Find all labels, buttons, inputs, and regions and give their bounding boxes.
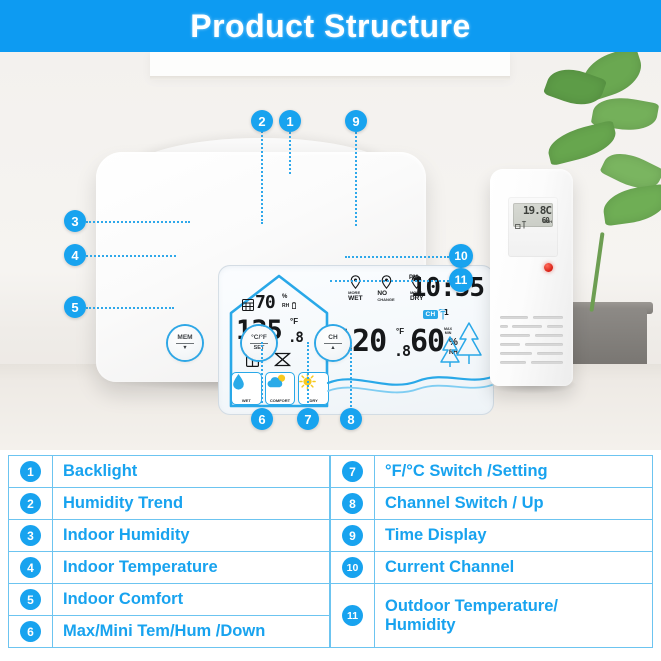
outdoor-sensor-unit: 19.8C 60 %RH: [490, 169, 573, 386]
comfort-comfort-label: COMFORT: [266, 398, 295, 403]
sensor-humidity-unit: %RH: [543, 219, 552, 224]
callout-badge-6[interactable]: 6: [251, 408, 273, 430]
legend-number-cell: 4: [9, 552, 53, 583]
sensor-led-indicator: [544, 263, 553, 272]
legend-label-7: °F/°C Switch /Setting: [375, 456, 652, 487]
legend-number-2: 2: [20, 493, 41, 514]
legend-number-1: 1: [20, 461, 41, 482]
legend-label-11-wrapper: Outdoor Temperature/ Humidity: [375, 584, 652, 647]
legend-label-3: Indoor Humidity: [53, 520, 329, 551]
legend-label-9: Time Display: [375, 520, 652, 551]
callout-badge-3[interactable]: 3: [64, 210, 86, 232]
header-banner: Product Structure: [0, 0, 661, 52]
mem-button-bottom-label: ▼: [182, 346, 187, 352]
legend-row-8[interactable]: 8 Channel Switch / Up: [330, 487, 653, 519]
callout-badge-11[interactable]: 11: [449, 268, 473, 292]
trend-no-change-line2: CHANGE: [377, 297, 394, 302]
indoor-humidity-rh: RH: [282, 303, 289, 309]
legend-row-6[interactable]: 6 Max/Mini Tem/Hum /Down: [8, 615, 330, 648]
mem-down-button[interactable]: MEM ▼: [168, 326, 202, 360]
time-display: 10:55: [411, 275, 484, 301]
legend-table: 1 Backlight 2 Humidity Trend 3 Indoor Hu…: [8, 455, 653, 653]
channel-badge: CH: [423, 310, 438, 319]
trend-pin-icon: [381, 275, 392, 289]
legend-number-7: 7: [342, 461, 363, 482]
plant-stem: [589, 232, 604, 312]
channel-number: 1: [444, 309, 448, 317]
button-divider: [250, 343, 268, 344]
legend-row-10[interactable]: 10 Current Channel: [330, 551, 653, 583]
legend-label-1: Backlight: [53, 456, 329, 487]
legend-number-6: 6: [20, 621, 41, 642]
sensor-front-window: 19.8C 60 %RH: [508, 197, 558, 257]
channel-button-top-label: CH: [328, 335, 337, 342]
legend-row-7[interactable]: 7 °F/°C Switch /Setting: [330, 455, 653, 487]
callout-leader-6: [261, 342, 263, 418]
mem-button-top-label: MEM: [177, 335, 192, 342]
callout-badge-2[interactable]: 2: [251, 110, 273, 132]
product-photo-scene: 70 % RH 135 .8 °F: [0, 52, 661, 450]
indoor-temperature-decimal: .8: [288, 331, 303, 345]
trees-graphic: [438, 319, 492, 371]
legend-number-cell: 3: [9, 520, 53, 551]
callout-leader-3: [86, 221, 190, 223]
callout-leader-11: [330, 280, 449, 282]
comfort-dry-label: DRY: [299, 398, 328, 403]
legend-label-5: Indoor Comfort: [53, 584, 329, 615]
comfort-wet-box: WET: [231, 372, 262, 405]
legend-number-cell: 8: [331, 488, 375, 519]
comfort-comfort-box: COMFORT: [265, 372, 296, 405]
battery-icon: [292, 302, 296, 309]
unit-set-button[interactable]: °C/°F SET: [242, 326, 276, 360]
legend-number-cell: 5: [9, 584, 53, 615]
legend-number-4: 4: [20, 557, 41, 578]
channel-up-button[interactable]: CH ▲: [316, 326, 350, 360]
trend-no-change-line1: NO: [377, 290, 394, 297]
legend-label-8: Channel Switch / Up: [375, 488, 652, 519]
outdoor-temperature-decimal: .8: [394, 344, 410, 359]
callout-leader-8: [350, 342, 352, 418]
outdoor-temperature-unit: °F: [396, 327, 404, 336]
trend-more-wet-line2: WET: [348, 295, 362, 302]
callout-badge-7[interactable]: 7: [297, 408, 319, 430]
legend-row-1[interactable]: 1 Backlight: [8, 455, 330, 487]
legend-row-4[interactable]: 4 Indoor Temperature: [8, 551, 330, 583]
callout-leader-9: [355, 124, 357, 226]
page-title: Product Structure: [0, 0, 661, 52]
indoor-comfort-row: WET COMFORT: [231, 372, 329, 405]
legend-number-9: 9: [342, 525, 363, 546]
legend-column-right: 7 °F/°C Switch /Setting 8 Channel Switch…: [330, 455, 653, 653]
indoor-humidity-icon: [242, 299, 254, 311]
unit-button-top-label: °C/°F: [251, 335, 267, 342]
legend-number-cell: 10: [331, 552, 375, 583]
legend-label-10: Current Channel: [375, 552, 652, 583]
callout-leader-2: [261, 124, 263, 224]
button-divider: [324, 343, 342, 344]
legend-label-11-line2: Humidity: [385, 616, 456, 634]
legend-number-cell: 11: [331, 584, 375, 647]
indoor-humidity-value: 70: [255, 294, 275, 312]
callout-badge-5[interactable]: 5: [64, 296, 86, 318]
button-divider: [176, 343, 194, 344]
plant-leaf: [601, 184, 661, 227]
legend-number-cell: 7: [331, 456, 375, 487]
background-wall-panel: [150, 52, 510, 78]
legend-number-cell: 2: [9, 488, 53, 519]
legend-label-2: Humidity Trend: [53, 488, 329, 519]
comfort-wet-label: WET: [232, 398, 261, 403]
legend-number-cell: 9: [331, 520, 375, 551]
indoor-temperature-unit: °F: [290, 317, 298, 326]
legend-row-3[interactable]: 3 Indoor Humidity: [8, 519, 330, 551]
legend-number-11: 11: [342, 605, 363, 626]
product-structure-page: Product Structure: [0, 0, 661, 661]
callout-badge-9[interactable]: 9: [345, 110, 367, 132]
callout-badge-8[interactable]: 8: [340, 408, 362, 430]
trend-pin-icon: [350, 275, 361, 289]
callout-badge-4[interactable]: 4: [64, 244, 86, 266]
legend-number-5: 5: [20, 589, 41, 610]
legend-row-9[interactable]: 9 Time Display: [330, 519, 653, 551]
callout-badge-1[interactable]: 1: [279, 110, 301, 132]
sensor-antenna-icon: [515, 216, 528, 225]
channel-button-bottom-label: ▲: [330, 346, 335, 352]
legend-column-left: 1 Backlight 2 Humidity Trend 3 Indoor Hu…: [8, 455, 330, 653]
callout-leader-10: [345, 256, 449, 258]
callout-leader-7: [307, 342, 309, 418]
legend-label-4: Indoor Temperature: [53, 552, 329, 583]
comfort-dry-box: DRY: [298, 372, 329, 405]
legend-number-cell: 6: [9, 616, 53, 647]
sensor-lcd-screen: 19.8C 60 %RH: [513, 203, 553, 227]
callout-badge-10[interactable]: 10: [449, 244, 473, 268]
indoor-humidity-percent: %: [282, 294, 287, 300]
legend-row-2[interactable]: 2 Humidity Trend: [8, 487, 330, 519]
legend-number-8: 8: [342, 493, 363, 514]
legend-row-11[interactable]: 11 Outdoor Temperature/ Humidity: [330, 583, 653, 648]
legend-number-10: 10: [342, 557, 363, 578]
clock-value: 10:55: [411, 275, 484, 301]
sensor-vent-grille: [500, 314, 563, 372]
legend-label-6: Max/Mini Tem/Hum /Down: [53, 616, 329, 647]
callout-leader-4: [86, 255, 176, 257]
legend-label-11-line1: Outdoor Temperature/: [385, 597, 558, 615]
legend-number-cell: 1: [9, 456, 53, 487]
legend-number-3: 3: [20, 525, 41, 546]
legend-row-5[interactable]: 5 Indoor Comfort: [8, 583, 330, 615]
fan-off-icon: [274, 352, 291, 367]
background-wall-panel-edge: [150, 76, 510, 80]
callout-leader-5: [86, 307, 174, 309]
